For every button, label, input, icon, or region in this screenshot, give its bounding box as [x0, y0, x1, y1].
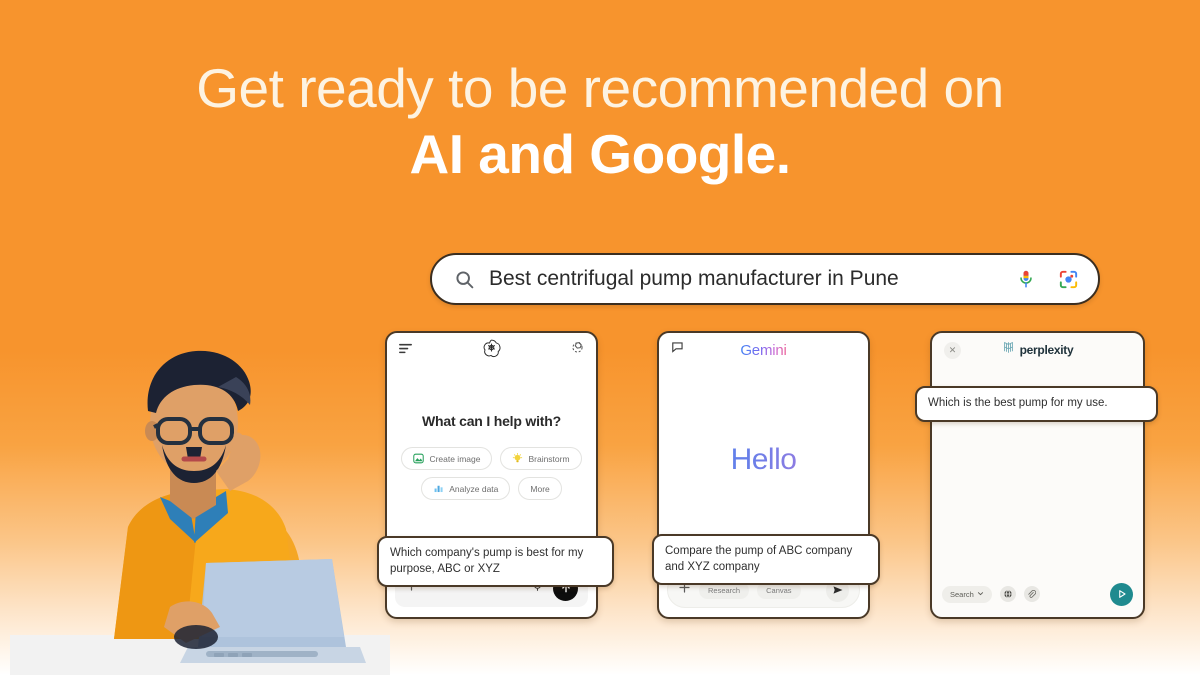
search-mode-label: Search [950, 590, 974, 599]
perplexity-composer[interactable]: Search [942, 581, 1133, 607]
google-search-bar[interactable]: Best centrifugal pump manufacturer in Pu… [430, 253, 1100, 305]
chip-brainstorm[interactable]: Brainstorm [500, 447, 581, 470]
lightbulb-icon [512, 453, 523, 464]
gemini-greeting: Hello [659, 443, 868, 477]
perplexity-logo-text: perplexity [1020, 343, 1074, 357]
search-icon [454, 269, 475, 290]
promo-banner: Get ready to be recommended on AI and Go… [0, 0, 1200, 675]
gemini-card-header: Gemini [659, 333, 868, 367]
google-lens-icon[interactable] [1057, 268, 1080, 291]
chip-label: Analyze data [449, 484, 498, 494]
chip-label: More [530, 484, 549, 494]
chart-icon [433, 483, 444, 494]
close-icon[interactable]: ✕ [944, 342, 961, 359]
chatgpt-greeting: What can I help with? [387, 413, 596, 429]
chip-analyze-data[interactable]: Analyze data [421, 477, 510, 500]
chip-label: Create image [429, 454, 480, 464]
chip-create-image[interactable]: Create image [401, 447, 492, 470]
man-at-laptop-illustration [10, 315, 390, 675]
chat-bubble-icon[interactable] [671, 341, 684, 359]
chip-label: Brainstorm [528, 454, 569, 464]
paperclip-icon[interactable] [1024, 586, 1040, 602]
headline-line-2: AI and Google. [0, 124, 1200, 186]
callout-gemini-prompt: Compare the pump of ABC company and XYZ … [652, 534, 880, 585]
chip-more[interactable]: More [518, 477, 561, 500]
gemini-logo-text: Gemini [740, 342, 786, 359]
search-mode-selector[interactable]: Search [942, 586, 992, 603]
chevron-down-icon [977, 590, 984, 599]
chatgpt-card-header [387, 333, 596, 367]
perplexity-app-card[interactable]: ✕ perplexity Search [930, 331, 1145, 619]
chatgpt-suggestion-chips: Create image Brainstorm [387, 447, 596, 500]
new-chat-icon[interactable] [571, 341, 584, 359]
search-input[interactable]: Best centrifugal pump manufacturer in Pu… [489, 267, 1015, 291]
perplexity-logo-icon [1002, 341, 1015, 359]
openai-logo-icon [481, 337, 502, 363]
hamburger-menu-icon[interactable] [399, 341, 412, 359]
page-title: Get ready to be recommended on AI and Go… [0, 58, 1200, 185]
callout-perplexity-prompt: Which is the best pump for my use. [915, 386, 1158, 422]
image-icon [413, 453, 424, 464]
microphone-icon[interactable] [1015, 268, 1037, 290]
headline-line-1: Get ready to be recommended on [0, 58, 1200, 120]
callout-chatgpt-prompt: Which company's pump is best for my purp… [377, 536, 614, 587]
globe-icon[interactable] [1000, 586, 1016, 602]
send-button[interactable] [1110, 583, 1133, 606]
perplexity-card-header: ✕ perplexity [932, 333, 1143, 367]
